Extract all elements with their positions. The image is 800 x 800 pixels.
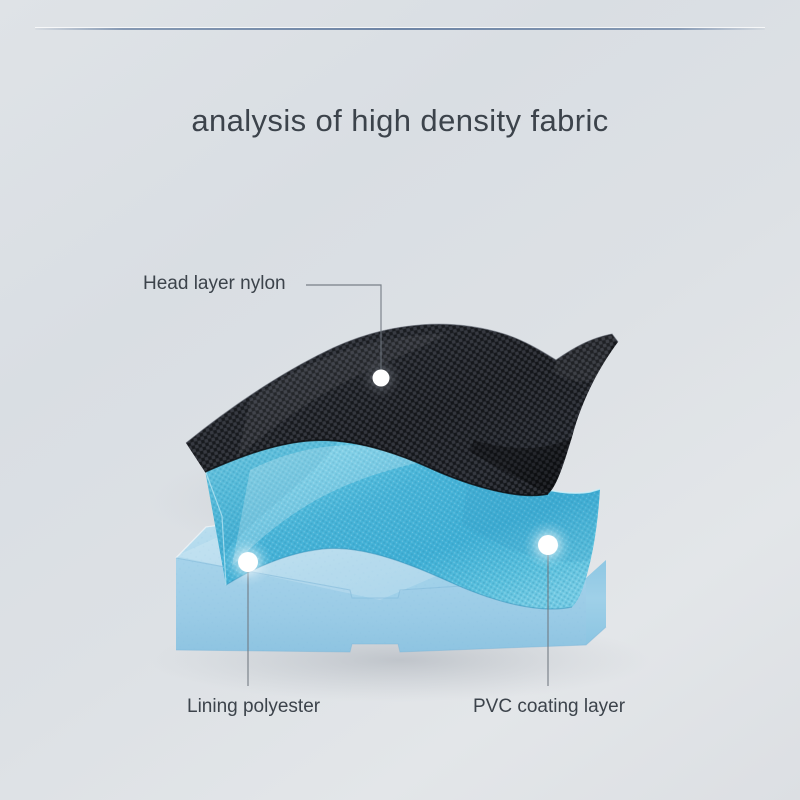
callout-label-pvc-coating-layer: PVC coating layer [473, 696, 625, 718]
callout-label-head-layer-nylon: Head layer nylon [143, 273, 286, 295]
marker-lining-polyester[interactable] [224, 538, 272, 586]
marker-pvc-coating-layer[interactable] [524, 521, 572, 569]
marker-dot-nylon [373, 370, 390, 387]
marker-dot-lining [238, 552, 258, 572]
page-root: analysis of high density fabric [0, 0, 800, 800]
lining-right-face [586, 560, 606, 645]
marker-dot-pvc [538, 535, 558, 555]
callout-label-lining-polyester: Lining polyester [187, 696, 320, 718]
fabric-layer-diagram [0, 0, 800, 800]
marker-head-layer-nylon[interactable] [360, 357, 402, 399]
